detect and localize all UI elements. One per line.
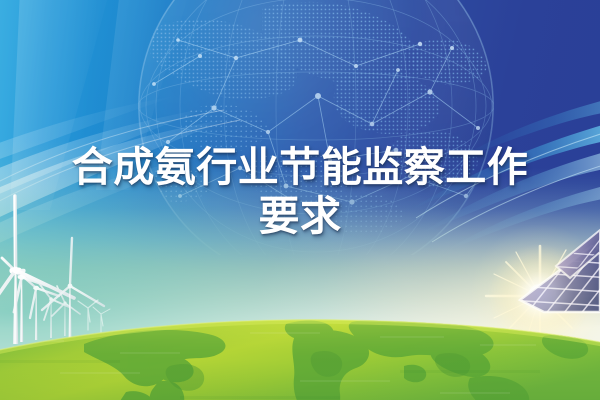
banner-title: 合成氨行业节能监察工作 要求 [0,143,600,241]
energy-conservation-banner: 合成氨行业节能监察工作 要求 [0,0,600,400]
banner-title-line-1: 合成氨行业节能监察工作 [0,143,600,192]
banner-title-line-2: 要求 [0,192,600,241]
